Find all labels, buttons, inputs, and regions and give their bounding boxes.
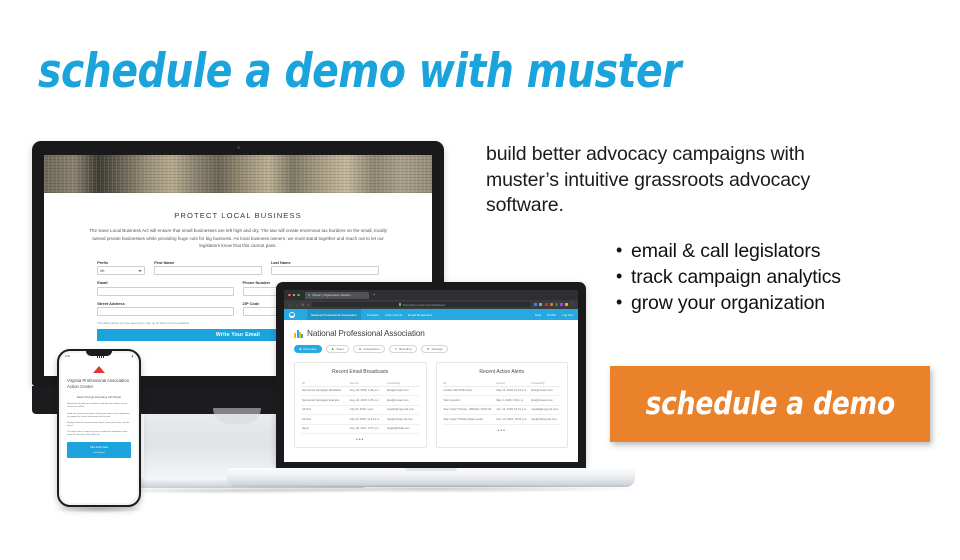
table-row: Ad TestJuly 23, 2018, noonmwade@mgrp.de.… bbox=[301, 405, 420, 414]
phone-mockup: 9:41 ▮ Virginia Professional Association… bbox=[57, 349, 141, 507]
reload-icon[interactable]: ↻ bbox=[301, 303, 304, 307]
cell-created-by: rlee@wrkrgrp.de.com bbox=[530, 415, 561, 424]
phone-page-title: Virginia Professional Association Action… bbox=[67, 378, 131, 391]
cell-created-by: hogan@thrlab.com bbox=[386, 424, 420, 433]
cell-id: Ad Test bbox=[301, 405, 349, 414]
campaign-paragraph: The Save Local Business Act will ensure … bbox=[87, 227, 390, 250]
status-time: 9:41 bbox=[65, 355, 70, 358]
nav-item-profile[interactable]: Profile bbox=[547, 313, 556, 317]
phone-paragraph: Speak directly with your members and dec… bbox=[67, 403, 131, 409]
back-icon[interactable]: ← bbox=[288, 303, 292, 307]
street-group: Street Address bbox=[97, 301, 233, 317]
phone-shadow bbox=[53, 505, 145, 513]
phone-notch bbox=[86, 351, 112, 356]
cell-created-by: jdoe@muster.com bbox=[386, 387, 420, 396]
forward-icon[interactable]: → bbox=[295, 303, 299, 307]
email-group: Email bbox=[97, 280, 233, 296]
nav-item-action-alerts[interactable]: Action Alerts bbox=[385, 313, 402, 317]
address-bar-url: https://app.muster.com/dashboard bbox=[403, 303, 445, 307]
browser-extensions[interactable]: ⋮ bbox=[534, 303, 574, 306]
broadcasts-title: Recent Email Broadcasts bbox=[301, 369, 420, 375]
bullet-item: grow your organization bbox=[616, 290, 916, 316]
muster-logo-icon bbox=[289, 312, 295, 318]
cell-sent-at: Nov. 14, 2016, 10:15 a.m. bbox=[495, 415, 530, 424]
overview-icon: ■ bbox=[300, 347, 302, 351]
first-name-group: First Name bbox=[154, 260, 262, 276]
extension-icon bbox=[550, 303, 553, 306]
phone-cta-line1: Take Action Now bbox=[70, 446, 128, 449]
feature-bullets: email & call legislators track campaign … bbox=[616, 238, 916, 316]
first-name-label: First Name bbox=[154, 260, 262, 265]
tab-settings-label: Settings bbox=[432, 347, 443, 351]
window-controls[interactable] bbox=[288, 294, 300, 297]
promo-banner: schedule a demo with muster PROTECT LOCA… bbox=[0, 0, 960, 560]
bullet-item: email & call legislators bbox=[616, 238, 916, 264]
tab-team[interactable]: ♟ Team bbox=[326, 345, 349, 353]
broadcasts-more-button[interactable]: ••• bbox=[301, 437, 420, 443]
gear-icon: ⚙ bbox=[427, 347, 430, 351]
table-row: Contact 118 2018 LetterMay 14, 2018, 10:… bbox=[443, 387, 562, 396]
tab-team-label: Team bbox=[336, 347, 344, 351]
phone-cta-button[interactable]: Take Action Now Get Started bbox=[67, 442, 131, 458]
table-row: Sponsored Campaign NewsletterAug. 29, 20… bbox=[301, 387, 420, 396]
cell-created-by: mwade@mgrp.de.com bbox=[386, 405, 420, 414]
tab-integrations[interactable]: ⊞ Integrations bbox=[353, 345, 385, 353]
nav-item-help[interactable]: Help bbox=[535, 313, 541, 317]
browser-nav-buttons[interactable]: ← → ↻ ⌂ bbox=[288, 303, 309, 307]
extension-icon bbox=[534, 303, 537, 306]
phone-paragraph: Send and receive messages calling your s… bbox=[67, 413, 131, 419]
laptop-mockup: Muster | Organization Dashbo… + ← → ↻ ⌂ … bbox=[276, 282, 586, 468]
cell-id: Sponsored Campaign Example bbox=[301, 396, 349, 405]
extension-icon bbox=[560, 303, 563, 306]
cell-sent-at: Jan. 22, 2018, 10:21 a.m. bbox=[495, 405, 530, 414]
phone-subtitle: Reach through advocating with Muster bbox=[67, 396, 131, 400]
table-row: Test KeywordMay 2, 2018, 1:40 p.m.jdoe@m… bbox=[443, 396, 562, 405]
org-logo-icon bbox=[294, 330, 303, 338]
phone-page: Virginia Professional Association Action… bbox=[61, 359, 137, 462]
tab-overview[interactable]: ■ Overview bbox=[294, 345, 322, 353]
home-icon[interactable]: ⌂ bbox=[307, 303, 309, 307]
browser-tab-title: Muster | Organization Dashbo… bbox=[312, 293, 353, 297]
card-recent-action-alerts: Recent Action Alerts ID Sent At Created … bbox=[436, 362, 569, 448]
battery-icon: ▮ bbox=[132, 355, 133, 358]
cell-id: Test Keyword bbox=[443, 396, 496, 405]
cell-sent-at: May 2, 2018, 1:40 p.m. bbox=[495, 396, 530, 405]
laptop-screen: Muster | Organization Dashbo… + ← → ↻ ⌂ … bbox=[284, 290, 578, 462]
email-input[interactable] bbox=[97, 287, 233, 296]
prefix-label: Prefix bbox=[97, 260, 145, 265]
hero-photo-cityscape bbox=[44, 155, 432, 193]
alerts-more-button[interactable]: ••• bbox=[443, 428, 562, 434]
address-bar[interactable]: https://app.muster.com/dashboard bbox=[312, 302, 531, 308]
cell-id: Ad Test bbox=[301, 415, 349, 424]
table-row: Stop Cyber Threats - HB1234 / 2018-VAJan… bbox=[443, 405, 562, 414]
lock-icon bbox=[399, 303, 401, 306]
form-row-name: Prefix Mr. First Name Last Name bbox=[97, 260, 379, 276]
virginia-logo-icon bbox=[93, 365, 105, 374]
cell-created-by: mwade@mgrp.de.com bbox=[530, 405, 561, 414]
close-icon[interactable] bbox=[288, 294, 291, 297]
campaign-title: PROTECT LOCAL BUSINESS bbox=[62, 211, 414, 220]
browser-tab-bar: Muster | Organization Dashbo… + bbox=[284, 290, 578, 300]
extension-icon bbox=[565, 303, 568, 306]
extension-icon bbox=[555, 303, 558, 306]
nav-brand-label: National Professional Association bbox=[311, 313, 357, 317]
cell-sent-at: May 14, 2018, 10:44 a.m. bbox=[495, 387, 530, 396]
cell-sent-at: July 20, 2018, 10:14 a.m. bbox=[349, 415, 386, 424]
dashboard-cards: Recent Email Broadcasts ID Sent At Creat… bbox=[294, 362, 568, 448]
dashboard-body: National Professional Association ■ Over… bbox=[284, 320, 578, 457]
cell-id: Stop Cyber Threats (State Level) bbox=[443, 415, 496, 424]
laptop-lid: Muster | Organization Dashbo… + ← → ↻ ⌂ … bbox=[276, 282, 586, 468]
table-row: Ad TestJuly 20, 2018, 10:14 a.m.rlee@wrk… bbox=[301, 415, 420, 424]
tab-overview-label: Overview bbox=[303, 347, 316, 351]
cell-created-by: jdoe@muster.com bbox=[530, 396, 561, 405]
cell-created-by: jdoe@muster.com bbox=[530, 387, 561, 396]
page-title: schedule a demo with muster bbox=[38, 44, 681, 99]
cell-sent-at: July 23, 2018, noon bbox=[349, 405, 386, 414]
nav-item-email-broadcasts[interactable]: Email Broadcasts bbox=[408, 313, 432, 317]
cell-id: Sponsored Campaign Newsletter bbox=[301, 387, 349, 396]
app-navbar: National Professional Association Contac… bbox=[284, 309, 578, 320]
cell-id: Contact 118 2018 Letter bbox=[443, 387, 496, 396]
phone-paragraph: Our tools make it simple for you to cont… bbox=[67, 431, 131, 437]
phone-paragraph: Engage all levels of government faster, … bbox=[67, 422, 131, 428]
nav-item-contacts[interactable]: Contacts bbox=[367, 313, 379, 317]
email-label: Email bbox=[97, 280, 233, 285]
street-label: Street Address bbox=[97, 301, 233, 306]
intro-paragraph: build better advocacy campaigns with mus… bbox=[486, 142, 878, 219]
tab-settings[interactable]: ⚙ Settings bbox=[421, 345, 448, 353]
nav-brand[interactable]: National Professional Association bbox=[307, 309, 361, 320]
phone-body: 9:41 ▮ Virginia Professional Association… bbox=[57, 349, 141, 507]
laptop-shadow bbox=[218, 485, 644, 493]
maximize-icon[interactable] bbox=[297, 294, 300, 297]
browser-url-bar: ← → ↻ ⌂ https://app.muster.com/dashboard bbox=[284, 300, 578, 309]
prefix-select[interactable]: Mr. bbox=[97, 266, 145, 275]
schedule-a-demo-button[interactable]: schedule a demo bbox=[610, 366, 930, 442]
branding-icon: ✎ bbox=[395, 347, 398, 351]
table-row: Sponsored Campaign ExampleAug. 22, 2018,… bbox=[301, 396, 420, 405]
integrations-icon: ⊞ bbox=[359, 347, 362, 351]
alerts-table: ID Sent At Created By Contact 118 2018 L… bbox=[443, 380, 562, 425]
cell-id: Demo bbox=[301, 424, 349, 433]
phone-cta-line2: Get Started bbox=[70, 452, 128, 454]
org-header: National Professional Association bbox=[294, 329, 568, 338]
webcam-icon bbox=[237, 146, 240, 149]
broadcasts-table: ID Sent At Created By Sponsored Campaign… bbox=[301, 380, 420, 434]
team-icon: ♟ bbox=[331, 347, 334, 351]
prefix-group: Prefix Mr. bbox=[97, 260, 145, 276]
tab-integrations-label: Integrations bbox=[363, 347, 379, 351]
cell-id: Stop Cyber Threats - HB1234 / 2018-VA bbox=[443, 405, 496, 414]
cell-created-by: rlee@wrkrgrp.de.com bbox=[386, 415, 420, 424]
browser-tab[interactable]: Muster | Organization Dashbo… bbox=[305, 292, 369, 299]
last-name-group: Last Name bbox=[271, 260, 379, 276]
extension-icon bbox=[539, 303, 542, 306]
new-tab-button[interactable]: + bbox=[373, 293, 376, 298]
dashboard-tabs: ■ Overview ♟ Team ⊞ Integrations ✎ bbox=[294, 345, 568, 353]
favicon-icon bbox=[308, 294, 311, 297]
table-row: DemoAug. 30, 2017, 2:57 p.m.hogan@thrlab… bbox=[301, 424, 420, 433]
tab-branding-label: Branding bbox=[399, 347, 411, 351]
bullet-item: track campaign analytics bbox=[616, 264, 916, 290]
cell-sent-at: Aug. 30, 2017, 2:57 p.m. bbox=[349, 424, 386, 433]
laptop-trackpad-notch bbox=[405, 468, 457, 471]
cell-sent-at: Aug. 22, 2018, 1:25 p.m. bbox=[349, 396, 386, 405]
phone-screen: 9:41 ▮ Virginia Professional Association… bbox=[61, 353, 137, 503]
cell-sent-at: Aug. 29, 2018, 1:38 p.m. bbox=[349, 387, 386, 396]
cta-label: schedule a demo bbox=[645, 386, 894, 422]
org-title: National Professional Association bbox=[307, 329, 425, 338]
extension-icon bbox=[545, 303, 548, 306]
tab-branding[interactable]: ✎ Branding bbox=[389, 345, 417, 353]
cell-created-by: jdoe@muster.com bbox=[386, 396, 420, 405]
first-name-input[interactable] bbox=[154, 266, 262, 275]
last-name-input[interactable] bbox=[271, 266, 379, 275]
minimize-icon[interactable] bbox=[293, 294, 296, 297]
nav-item-log-out[interactable]: Log Out bbox=[562, 313, 573, 317]
last-name-label: Last Name bbox=[271, 260, 379, 265]
table-row: Stop Cyber Threats (State Level)Nov. 14,… bbox=[443, 415, 562, 424]
street-input[interactable] bbox=[97, 307, 233, 316]
alerts-title: Recent Action Alerts bbox=[443, 369, 562, 375]
card-recent-email-broadcasts: Recent Email Broadcasts ID Sent At Creat… bbox=[294, 362, 427, 448]
browser-menu-icon[interactable]: ⋮ bbox=[571, 303, 574, 306]
